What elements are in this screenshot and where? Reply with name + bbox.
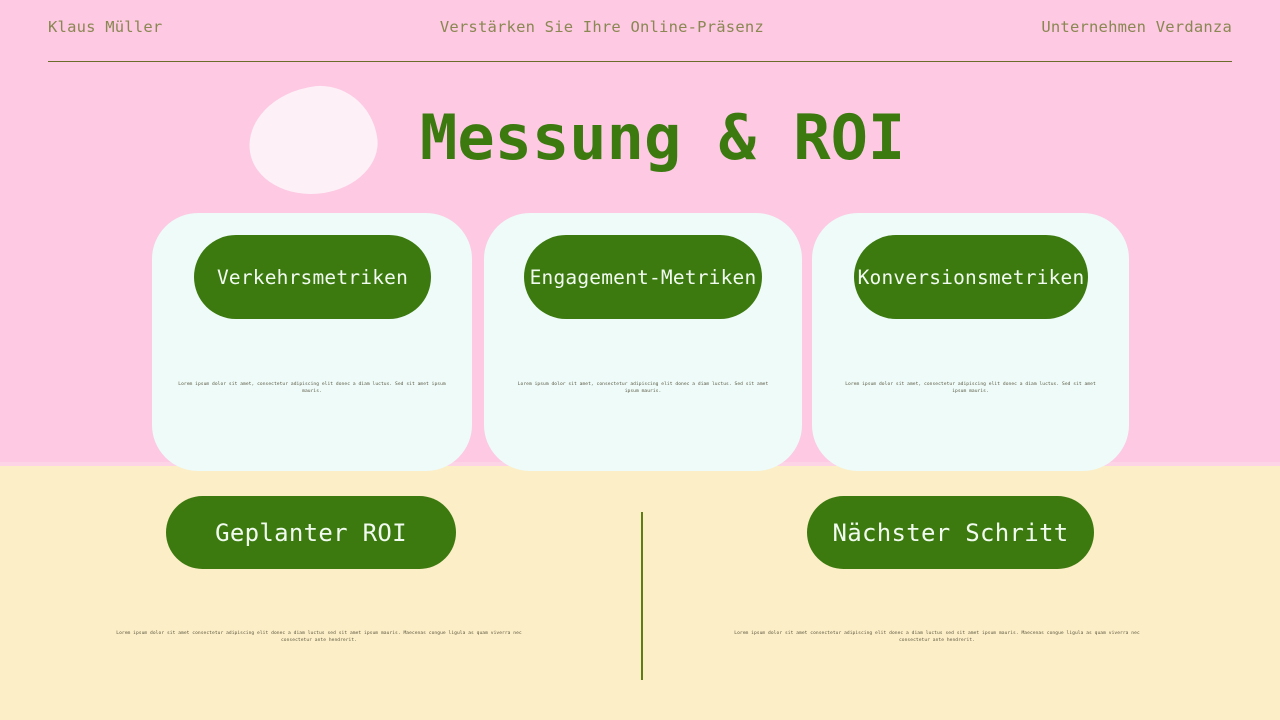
metric-card-engagement-body: Lorem ipsum dolor sit amet, consectetur … xyxy=(510,381,776,395)
metric-card-engagement-pill[interactable]: Engagement-Metriken xyxy=(524,235,762,319)
metric-card-engagement[interactable]: Engagement-Metriken Lorem ipsum dolor si… xyxy=(484,213,802,471)
metric-card-traffic-body: Lorem ipsum dolor sit amet, consectetur … xyxy=(178,381,446,395)
metric-card-engagement-label: Engagement-Metriken xyxy=(530,266,757,289)
metric-card-conversion[interactable]: Konversionsmetriken Lorem ipsum dolor si… xyxy=(812,213,1129,471)
metric-card-traffic-pill[interactable]: Verkehrsmetriken xyxy=(194,235,431,319)
cta-next-step-label: Nächster Schritt xyxy=(833,519,1069,547)
metric-card-conversion-pill[interactable]: Konversionsmetriken xyxy=(854,235,1088,319)
cta-planned-roi[interactable]: Geplanter ROI xyxy=(166,496,456,569)
cta-next-step-body: Lorem ipsum dolor sit amet consectetur a… xyxy=(730,630,1144,644)
metric-card-conversion-label: Konversionsmetriken xyxy=(858,266,1085,289)
metric-card-traffic-label: Verkehrsmetriken xyxy=(217,266,408,289)
vertical-divider xyxy=(641,512,643,680)
slide-root: Klaus Müller Verstärken Sie Ihre Online-… xyxy=(0,0,1280,720)
decorative-blob-shape xyxy=(242,79,384,203)
cta-next-step[interactable]: Nächster Schritt xyxy=(807,496,1094,569)
metric-card-conversion-body: Lorem ipsum dolor sit amet, consectetur … xyxy=(838,381,1103,395)
header-tagline: Verstärken Sie Ihre Online-Präsenz xyxy=(440,18,764,36)
cta-planned-roi-body: Lorem ipsum dolor sit amet consectetur a… xyxy=(112,630,526,644)
slide-header: Klaus Müller Verstärken Sie Ihre Online-… xyxy=(48,18,1232,62)
metric-card-traffic[interactable]: Verkehrsmetriken Lorem ipsum dolor sit a… xyxy=(152,213,472,471)
header-author: Klaus Müller xyxy=(48,18,162,36)
header-company: Unternehmen Verdanza xyxy=(1041,18,1232,36)
page-title: Messung & ROI xyxy=(420,100,905,176)
cta-planned-roi-label: Geplanter ROI xyxy=(215,519,407,547)
